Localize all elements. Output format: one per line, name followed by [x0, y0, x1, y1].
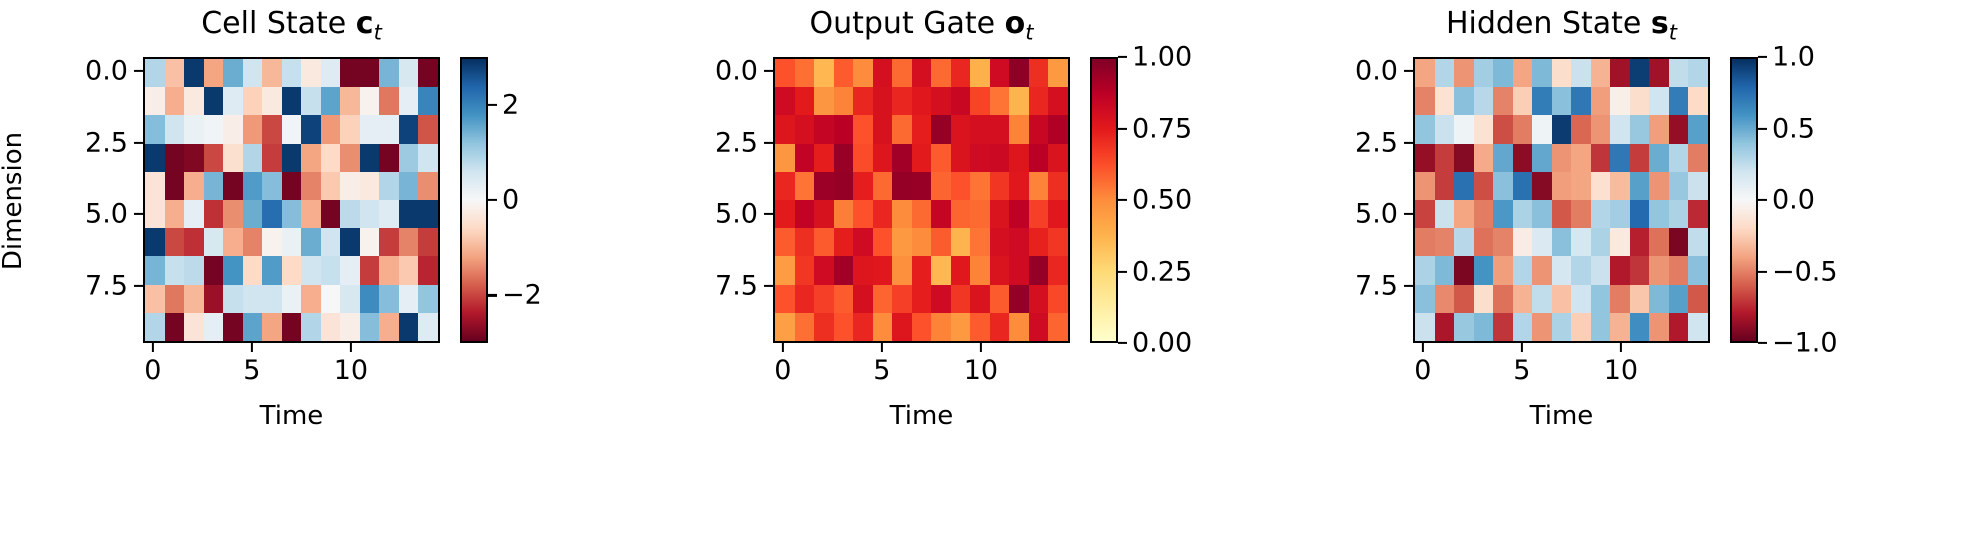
heatmap-axes-3 [1413, 57, 1710, 343]
heatmap-cell [1552, 59, 1572, 87]
x-tick-mark [1620, 343, 1622, 352]
heatmap-cell [1649, 87, 1669, 115]
heatmap-cell [1591, 172, 1611, 200]
colorbar-tick-mark [1758, 56, 1767, 58]
heatmap-cell [1415, 115, 1435, 143]
y-tick-label: 5.0 [1303, 199, 1398, 230]
colorbar-tick-label: 0.5 [1772, 113, 1815, 144]
heatmap-cell [1513, 115, 1533, 143]
heatmap-cell [1571, 59, 1591, 87]
heatmap-cell [1493, 115, 1513, 143]
panel-title-3: Hidden State st [1373, 6, 1750, 50]
heatmap-cell [1688, 87, 1708, 115]
heatmap-cell [1474, 256, 1494, 284]
colorbar-tick-label: −0.5 [1772, 256, 1838, 287]
heatmap-cell [1610, 115, 1630, 143]
heatmap-cell [1630, 59, 1650, 87]
heatmap-cell [1532, 200, 1552, 228]
heatmap-cell [1513, 172, 1533, 200]
heatmap-cell [1474, 200, 1494, 228]
colorbar-3 [1730, 57, 1758, 343]
heatmap-cell [1474, 59, 1494, 87]
panel-title-symbol: s [1651, 6, 1669, 41]
colorbar-tick-mark [1758, 342, 1767, 344]
heatmap-cell [1688, 256, 1708, 284]
heatmap-cell [1435, 228, 1455, 256]
heatmap-cell [1415, 200, 1435, 228]
heatmap-cell [1610, 285, 1630, 313]
heatmap-cell [1435, 59, 1455, 87]
heatmap-cell [1493, 228, 1513, 256]
y-tick-label: 7.5 [1303, 270, 1398, 301]
heatmap-cell [1474, 172, 1494, 200]
heatmap-cell [1649, 228, 1669, 256]
y-tick-mark [1404, 213, 1413, 215]
heatmap-cell [1415, 59, 1435, 87]
heatmap-cell [1649, 172, 1669, 200]
heatmap-cell [1435, 313, 1455, 341]
heatmap-cell [1435, 256, 1455, 284]
heatmap-cell [1688, 313, 1708, 341]
colorbar-tick-mark [1758, 270, 1767, 272]
heatmap-cell [1591, 228, 1611, 256]
heatmap-cell [1415, 285, 1435, 313]
heatmap-cell [1630, 256, 1650, 284]
heatmap-cell [1669, 172, 1689, 200]
heatmap-cell [1688, 285, 1708, 313]
heatmap-cell [1552, 256, 1572, 284]
heatmap-cell [1610, 87, 1630, 115]
heatmap-cell [1415, 256, 1435, 284]
heatmap-cell [1513, 228, 1533, 256]
y-tick-mark [1404, 70, 1413, 72]
heatmap-cell [1688, 59, 1708, 87]
heatmap-cell [1688, 172, 1708, 200]
heatmap-cell [1591, 200, 1611, 228]
heatmap-cell [1591, 59, 1611, 87]
heatmap-cell [1435, 144, 1455, 172]
heatmap-cell [1532, 313, 1552, 341]
heatmap-cell [1532, 87, 1552, 115]
heatmap-cell [1669, 256, 1689, 284]
heatmap-cell [1630, 144, 1650, 172]
heatmap-panel-3: Hidden State st0.02.55.07.50510Time1.00.… [0, 0, 1983, 555]
heatmap-cell [1571, 172, 1591, 200]
heatmap-cell [1454, 285, 1474, 313]
heatmap-cell [1610, 200, 1630, 228]
colorbar-tick-label: 0.0 [1772, 185, 1815, 216]
heatmap-cell [1532, 115, 1552, 143]
heatmap-cell [1610, 228, 1630, 256]
heatmap-cell [1571, 144, 1591, 172]
y-tick-mark [1404, 142, 1413, 144]
heatmap-cell [1513, 285, 1533, 313]
heatmap-cell [1669, 200, 1689, 228]
heatmap-cell [1591, 144, 1611, 172]
heatmap-cell [1552, 313, 1572, 341]
heatmap-cell [1532, 59, 1552, 87]
heatmap-cell [1474, 115, 1494, 143]
x-axis-label: Time [1413, 401, 1710, 431]
heatmap-cell [1669, 285, 1689, 313]
heatmap-cell [1552, 115, 1572, 143]
heatmap-cell [1454, 115, 1474, 143]
heatmap-cell [1688, 115, 1708, 143]
heatmap-cell [1415, 172, 1435, 200]
heatmap-cell [1591, 87, 1611, 115]
heatmap-cell [1649, 59, 1669, 87]
colorbar-tick-label: −1.0 [1772, 328, 1838, 359]
heatmap-cell [1493, 144, 1513, 172]
heatmap-cell [1630, 313, 1650, 341]
heatmap-cell [1532, 285, 1552, 313]
heatmap-cell [1493, 87, 1513, 115]
heatmap-cell [1610, 256, 1630, 284]
heatmap-cell [1571, 313, 1591, 341]
heatmap-cell [1513, 256, 1533, 284]
heatmap-cell [1454, 59, 1474, 87]
heatmap-cell [1630, 115, 1650, 143]
heatmap-cell [1435, 115, 1455, 143]
heatmap-cell [1435, 200, 1455, 228]
heatmap-cell [1571, 200, 1591, 228]
heatmap-cell [1571, 115, 1591, 143]
heatmap-cell [1454, 200, 1474, 228]
heatmap-cell [1649, 313, 1669, 341]
heatmap-cell [1552, 228, 1572, 256]
heatmap-cell [1630, 172, 1650, 200]
heatmap-cell [1669, 87, 1689, 115]
heatmap-cell [1591, 256, 1611, 284]
heatmap-cell [1552, 144, 1572, 172]
heatmap-cell [1454, 87, 1474, 115]
heatmap-cell [1493, 256, 1513, 284]
heatmap-cell [1669, 313, 1689, 341]
heatmap-cell [1591, 285, 1611, 313]
heatmap-cell [1454, 228, 1474, 256]
heatmap-cell [1493, 313, 1513, 341]
heatmap-cell [1610, 172, 1630, 200]
heatmap-cell [1474, 228, 1494, 256]
heatmap-cell [1454, 256, 1474, 284]
colorbar-tick-mark [1758, 199, 1767, 201]
heatmap-cell [1493, 172, 1513, 200]
x-tick-label: 5 [1513, 355, 1530, 386]
heatmap-cell [1571, 285, 1591, 313]
heatmap-grid [1415, 59, 1708, 341]
heatmap-cell [1552, 285, 1572, 313]
colorbar-tick-label: 1.0 [1772, 42, 1815, 73]
heatmap-cell [1513, 59, 1533, 87]
heatmap-cell [1435, 285, 1455, 313]
heatmap-cell [1591, 313, 1611, 341]
heatmap-cell [1474, 313, 1494, 341]
heatmap-cell [1688, 228, 1708, 256]
panel-title-text: Hidden State [1446, 6, 1651, 41]
heatmap-cell [1513, 313, 1533, 341]
heatmap-cell [1415, 313, 1435, 341]
heatmap-cell [1454, 144, 1474, 172]
heatmap-cell [1571, 256, 1591, 284]
heatmap-cell [1493, 59, 1513, 87]
heatmap-cell [1649, 285, 1669, 313]
heatmap-cell [1630, 228, 1650, 256]
heatmap-cell [1454, 172, 1474, 200]
heatmap-cell [1610, 313, 1630, 341]
heatmap-cell [1649, 115, 1669, 143]
matplotlib-figure: Cell State ct0.02.55.07.50510TimeDimensi… [0, 0, 1983, 555]
heatmap-cell [1630, 285, 1650, 313]
heatmap-cell [1571, 87, 1591, 115]
y-tick-mark [1404, 285, 1413, 287]
heatmap-cell [1669, 144, 1689, 172]
heatmap-cell [1474, 144, 1494, 172]
x-tick-label: 0 [1414, 355, 1431, 386]
heatmap-cell [1688, 200, 1708, 228]
x-tick-mark [1521, 343, 1523, 352]
heatmap-cell [1649, 200, 1669, 228]
heatmap-cell [1493, 285, 1513, 313]
heatmap-cell [1415, 228, 1435, 256]
heatmap-cell [1454, 313, 1474, 341]
heatmap-cell [1513, 200, 1533, 228]
heatmap-cell [1591, 115, 1611, 143]
heatmap-cell [1493, 200, 1513, 228]
heatmap-cell [1630, 200, 1650, 228]
heatmap-cell [1649, 256, 1669, 284]
heatmap-cell [1630, 87, 1650, 115]
heatmap-cell [1669, 59, 1689, 87]
y-tick-label: 0.0 [1303, 56, 1398, 87]
heatmap-cell [1474, 87, 1494, 115]
heatmap-cell [1552, 172, 1572, 200]
x-tick-label: 10 [1604, 355, 1638, 386]
x-tick-mark [1422, 343, 1424, 352]
heatmap-cell [1669, 228, 1689, 256]
heatmap-cell [1435, 172, 1455, 200]
heatmap-cell [1474, 285, 1494, 313]
heatmap-cell [1552, 200, 1572, 228]
heatmap-cell [1610, 144, 1630, 172]
heatmap-cell [1571, 228, 1591, 256]
heatmap-cell [1532, 172, 1552, 200]
heatmap-cell [1552, 87, 1572, 115]
heatmap-cell [1415, 87, 1435, 115]
heatmap-cell [1669, 115, 1689, 143]
heatmap-cell [1649, 144, 1669, 172]
heatmap-cell [1532, 144, 1552, 172]
heatmap-cell [1435, 87, 1455, 115]
panel-title-subscript: t [1669, 20, 1677, 44]
colorbar-tick-mark [1758, 127, 1767, 129]
heatmap-cell [1513, 87, 1533, 115]
heatmap-cell [1610, 59, 1630, 87]
heatmap-cell [1532, 256, 1552, 284]
heatmap-cell [1513, 144, 1533, 172]
heatmap-cell [1532, 228, 1552, 256]
y-tick-label: 2.5 [1303, 127, 1398, 158]
heatmap-cell [1688, 144, 1708, 172]
heatmap-cell [1415, 144, 1435, 172]
